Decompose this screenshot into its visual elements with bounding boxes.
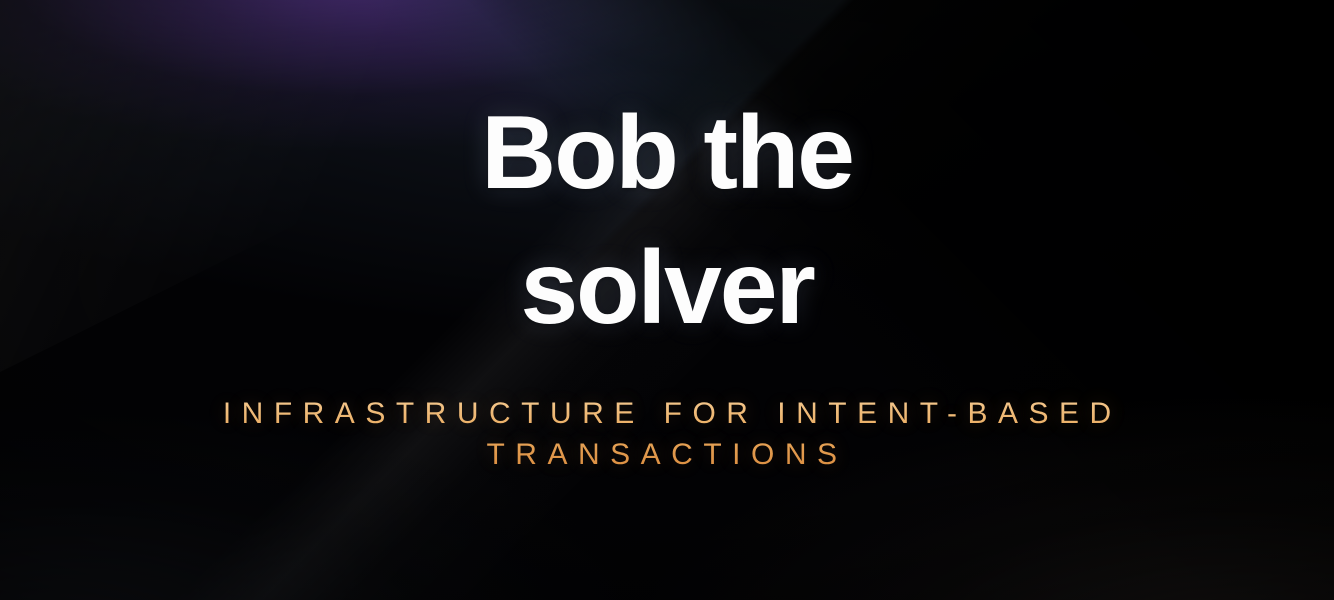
- hero-banner: Bob the solver INFRASTRUCTURE FOR INTENT…: [0, 0, 1334, 600]
- hero-content: Bob the solver INFRASTRUCTURE FOR INTENT…: [0, 0, 1334, 600]
- page-title: Bob the solver: [432, 86, 902, 356]
- hero-subtitle: INFRASTRUCTURE FOR INTENT-BASED TRANSACT…: [167, 394, 1167, 474]
